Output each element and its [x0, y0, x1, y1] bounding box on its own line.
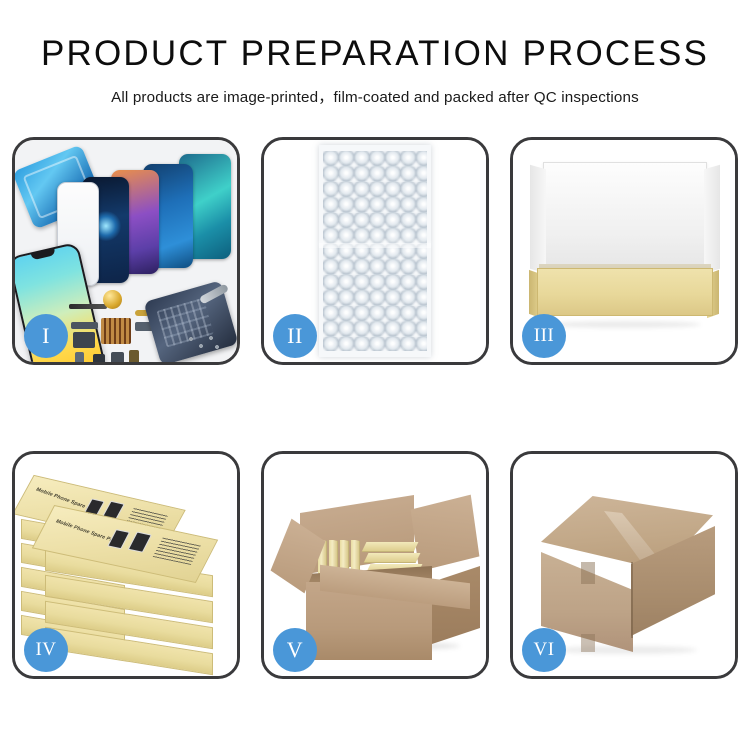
small-part-icon — [111, 352, 124, 362]
process-step-panel-2: II — [261, 137, 489, 365]
process-step-panel-1: I — [12, 137, 240, 365]
box-spec-lines-front — [153, 537, 201, 565]
screws-icon — [187, 334, 221, 352]
chip-array-icon — [101, 318, 131, 344]
process-step-panel-5: V — [261, 451, 489, 679]
box-phone-image-front-1 — [107, 529, 130, 549]
header: PRODUCT PREPARATION PROCESS All products… — [0, 0, 750, 107]
camera-module-icon — [73, 332, 95, 348]
bubble-highlight-layer — [323, 151, 427, 351]
step-badge-2: II — [273, 314, 317, 358]
box-shadow — [549, 321, 701, 328]
step-badge-1: I — [24, 314, 68, 358]
page-subtitle: All products are image-printed，film-coat… — [0, 85, 750, 107]
inner-box-item — [362, 542, 419, 552]
vibration-motor-icon — [103, 290, 122, 309]
box-tray-icon — [537, 268, 713, 316]
process-step-grid: I II III — [12, 137, 738, 679]
flex-strip-icon — [69, 304, 107, 309]
process-step-panel-3: III — [510, 137, 738, 365]
inner-box-item — [364, 553, 421, 563]
carton-seam-upper — [581, 562, 595, 584]
step-badge-5: V — [273, 628, 317, 672]
process-step-panel-4: Mobile Phone Spare Parts Mobile Phone Sp… — [12, 451, 240, 679]
page-title: PRODUCT PREPARATION PROCESS — [0, 36, 750, 73]
speaker-icon — [93, 354, 105, 362]
connector-icon — [129, 350, 139, 362]
step-badge-3: III — [522, 314, 566, 358]
carton-vertical-edge — [631, 562, 633, 638]
step-badge-4: IV — [24, 628, 68, 672]
step-badge-6: VI — [522, 628, 566, 672]
box-phone-image-front-2 — [128, 532, 152, 553]
sim-tray-icon — [75, 352, 84, 362]
flex-cable-icon — [71, 322, 98, 329]
bubble-wrap-sheet-icon — [319, 145, 431, 357]
process-step-panel-6: VI — [510, 451, 738, 679]
carton-seam-lower — [581, 634, 595, 652]
